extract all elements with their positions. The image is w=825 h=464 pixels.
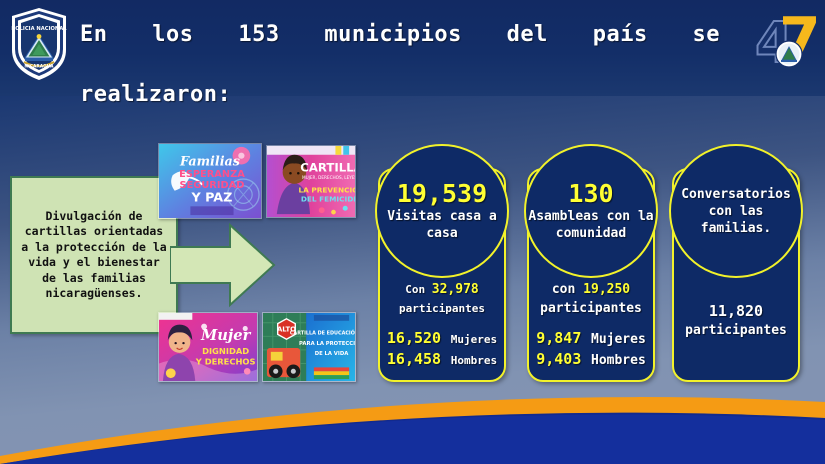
svg-text:LA PREVENCIÓN: LA PREVENCIÓN xyxy=(298,186,355,195)
participants-word-conversatorios: participantes xyxy=(674,321,798,340)
women-line-visitas: 16,520 Mujeres xyxy=(380,328,504,349)
participants-number-conversatorios: 11,820 xyxy=(674,302,798,321)
svg-text:PARA LA PROTECCIÓN: PARA LA PROTECCIÓN xyxy=(299,340,355,347)
poster-cartilla-icon[interactable]: CARTILLA MUJER, DERECHOS, LEYES Y LA PRE… xyxy=(266,145,356,218)
women-word: Mujeres xyxy=(451,333,497,346)
stat-circle-conversatorios: Conversatorios con las familias. xyxy=(669,144,803,278)
page-title: En los 153 municipios del país se realiz… xyxy=(80,20,720,110)
stat-card-asambleas: 130 Asambleas con la comunidad con 19,25… xyxy=(527,168,655,382)
men-number: 16,458 xyxy=(387,350,441,368)
participants-prefix: Con xyxy=(405,283,425,296)
spacer xyxy=(529,318,653,328)
svg-text:DE LA VIDA: DE LA VIDA xyxy=(315,351,350,357)
participants-word-asambleas: participantes xyxy=(529,299,653,318)
poster-seguridad-vial-icon[interactable]: ALTO CARTILLA DE EDUCACIÓN VIAL PARA LA … xyxy=(262,312,356,382)
svg-text:DEL FEMICIDIO: DEL FEMICIDIO xyxy=(301,194,355,203)
stat-label-visitas: Visitas casa a casa xyxy=(377,208,507,242)
svg-text:Familias: Familias xyxy=(179,153,240,168)
svg-text:MUJER, DERECHOS, LEYES Y: MUJER, DERECHOS, LEYES Y xyxy=(302,175,355,180)
participants-line-visitas: Con 32,978 xyxy=(380,280,504,299)
stat-number-asambleas: 130 xyxy=(568,180,613,208)
page-title-line2: realizaron: xyxy=(80,80,720,110)
stat-card-visitas: 19,539 Visitas casa a casa Con 32,978 pa… xyxy=(378,168,506,382)
slide-root: POLICIA NACIONAL NICARAGUA En los 153 mu… xyxy=(0,0,825,464)
svg-text:CARTILLA DE EDUCACIÓN VIAL: CARTILLA DE EDUCACIÓN VIAL xyxy=(290,329,355,336)
callout-box: Divulgación de cartillas orientadas a la… xyxy=(10,176,178,334)
women-number: 16,520 xyxy=(387,329,441,347)
participants-line-asambleas: con 19,250 xyxy=(529,280,653,299)
women-number: 9,847 xyxy=(536,329,581,347)
stat-card-conversatorios: Conversatorios con las familias. 11,820 … xyxy=(672,168,800,382)
svg-text:Y PAZ: Y PAZ xyxy=(191,189,233,204)
anniversary-47-logo-icon: 4 7 xyxy=(743,4,823,80)
spacer xyxy=(380,318,504,328)
stat-label-asambleas: Asambleas con la comunidad xyxy=(526,208,656,242)
svg-text:Y DERECHOS: Y DERECHOS xyxy=(195,357,256,367)
svg-text:ESPERANZA: ESPERANZA xyxy=(179,169,245,180)
men-line-asambleas: 9,403 Hombres xyxy=(529,349,653,370)
stat-body-conversatorios: 11,820 participantes xyxy=(674,302,798,340)
svg-text:POLICIA NACIONAL: POLICIA NACIONAL xyxy=(11,26,67,32)
bottom-decorative-bands xyxy=(0,384,825,464)
men-word: Hombres xyxy=(591,353,646,368)
svg-text:CARTILLA: CARTILLA xyxy=(300,160,355,174)
stat-body-asambleas: con 19,250 participantes 9,847 Mujeres 9… xyxy=(529,280,653,370)
women-word: Mujeres xyxy=(591,332,646,347)
police-national-badge-icon: POLICIA NACIONAL NICARAGUA xyxy=(8,6,70,82)
participants-prefix: con xyxy=(552,282,575,297)
participants-word-visitas: participantes xyxy=(380,299,504,318)
men-word: Hombres xyxy=(451,354,497,367)
participants-number: 19,250 xyxy=(583,282,630,297)
stat-body-visitas: Con 32,978 participantes 16,520 Mujeres … xyxy=(380,280,504,370)
svg-text:NICARAGUA: NICARAGUA xyxy=(24,64,54,70)
right-arrow-icon xyxy=(170,219,276,311)
women-line-asambleas: 9,847 Mujeres xyxy=(529,328,653,349)
men-line-visitas: 16,458 Hombres xyxy=(380,349,504,370)
participants-number: 32,978 xyxy=(432,282,479,297)
callout-text: Divulgación de cartillas orientadas a la… xyxy=(12,209,176,302)
stat-circle-asambleas: 130 Asambleas con la comunidad xyxy=(524,144,658,278)
men-number: 9,403 xyxy=(536,350,581,368)
stat-number-visitas: 19,539 xyxy=(397,180,487,208)
stat-label-conversatorios: Conversatorios con las familias. xyxy=(671,186,801,237)
page-title-line1: En los 153 municipios del país se xyxy=(80,20,720,80)
poster-familias-icon[interactable]: Familias ESPERANZA SEGURIDAD Y PAZ xyxy=(158,143,262,219)
stat-circle-visitas: 19,539 Visitas casa a casa xyxy=(375,144,509,278)
svg-text:DIGNIDAD: DIGNIDAD xyxy=(202,346,249,356)
poster-mujer-icon[interactable]: Mujer DIGNIDAD Y DERECHOS xyxy=(158,312,258,382)
